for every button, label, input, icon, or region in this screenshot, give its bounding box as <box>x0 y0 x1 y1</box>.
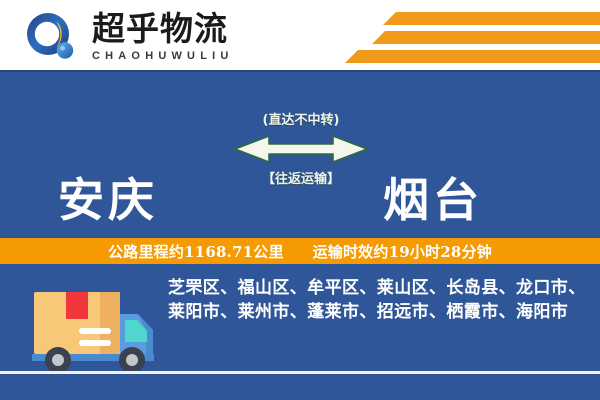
brand-block: 超乎物流 CHAOHUWULIU <box>92 10 234 63</box>
route-info-text: 公路里程约1168.71公里 运输时效约19小时28分钟 <box>108 241 492 262</box>
brand-name-en: CHAOHUWULIU <box>92 49 234 63</box>
delivery-truck-icon <box>20 276 160 376</box>
route-middle-block: (直达不中转) 【往返运输】 <box>225 112 377 204</box>
distance-label: 公路里程约1168.71公里 <box>108 243 284 261</box>
bottom-divider <box>0 371 600 374</box>
district-line: 莱阳市、莱州市、蓬莱市、招远市、栖霞市、海阳市 <box>168 300 586 324</box>
district-line: 芝罘区、福山区、牟平区、莱山区、长岛县、龙口市、 <box>168 276 586 300</box>
direct-route-note: (直达不中转) <box>225 112 377 130</box>
orange-speed-stripe-2-icon <box>372 31 600 44</box>
destination-city-label: 烟台 <box>383 164 483 230</box>
banner-header: 超乎物流 CHAOHUWULIU <box>0 0 600 70</box>
bidirectional-arrow-icon <box>225 132 377 166</box>
logistics-route-banner: 超乎物流 CHAOHUWULIU 安庆 (直达不中转) 【往返运输】 烟台 公路… <box>0 0 600 400</box>
district-list: 芝罘区、福山区、牟平区、莱山区、长岛县、龙口市、 莱阳市、莱州市、蓬莱市、招远市… <box>168 276 586 324</box>
route-panel: 安庆 (直达不中转) 【往返运输】 烟台 <box>0 70 600 239</box>
route-info-bar: 公路里程约1168.71公里 运输时效约19小时28分钟 <box>0 237 600 266</box>
orange-speed-stripe-3-icon <box>345 50 600 63</box>
orange-speed-stripes-icon <box>383 12 600 25</box>
brand-name-cn: 超乎物流 <box>92 10 234 48</box>
circle-crescent-logo-icon <box>26 12 76 62</box>
origin-city-label: 安庆 <box>58 164 158 230</box>
coverage-panel: 芝罘区、福山区、牟平区、莱山区、长岛县、龙口市、 莱阳市、莱州市、蓬莱市、招远市… <box>0 264 600 400</box>
round-trip-note: 【往返运输】 <box>225 171 377 189</box>
duration-label: 运输时效约19小时28分钟 <box>313 243 492 261</box>
